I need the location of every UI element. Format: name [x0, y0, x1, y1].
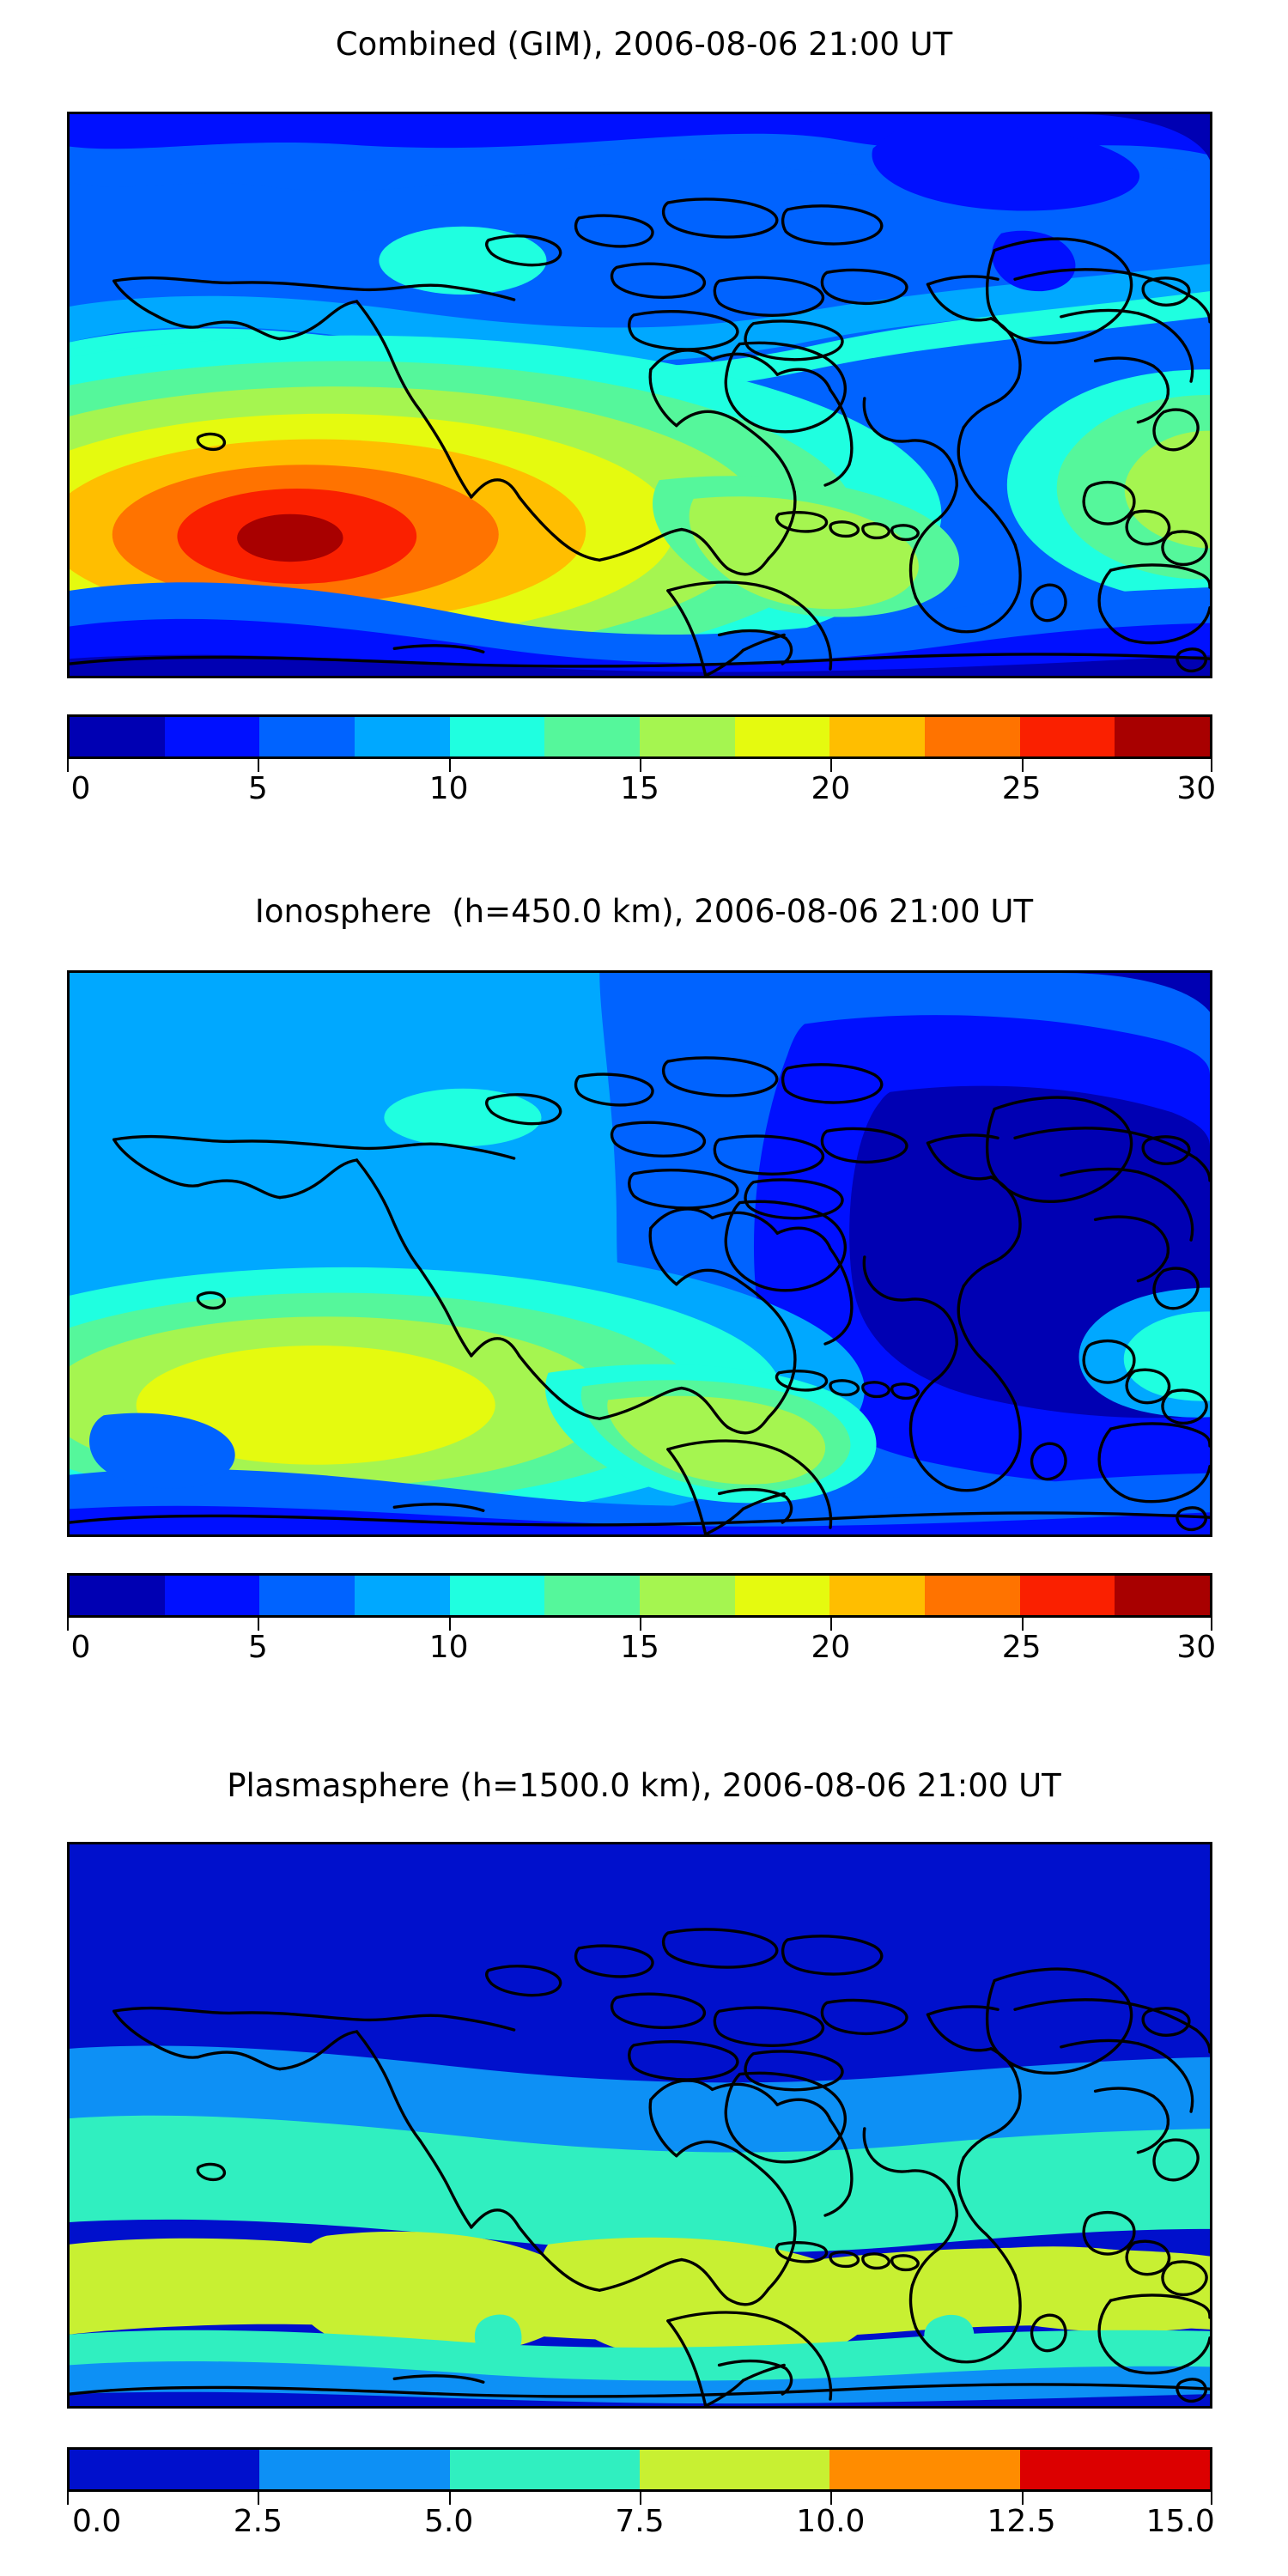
panel-combined-gim: Combined (GIM), 2006-08-06 21:00 UT [0, 0, 1288, 859]
cb2-seg-7 [735, 1576, 830, 1615]
contour-field-ionosphere [70, 973, 1210, 1534]
cb2-seg-1 [165, 1576, 260, 1615]
cb2-seg-5 [544, 1576, 640, 1615]
cb1-seg-0 [70, 717, 165, 756]
cb3-seg-2 [450, 2450, 640, 2489]
cb3-seg-3 [640, 2450, 829, 2489]
contour-field-plasmasphere [70, 1844, 1210, 2406]
map-field-combined [70, 114, 1210, 676]
cb1-tick-5: 25 [1002, 771, 1042, 806]
contour-field-combined [70, 114, 1210, 676]
cb2-seg-3 [355, 1576, 450, 1615]
colorbar-labels-combined: 0 5 10 15 20 25 30 [67, 771, 1212, 811]
cb1-seg-11 [1115, 717, 1210, 756]
cb1-tick-0: 0 [71, 771, 91, 806]
map-field-plasmasphere [70, 1844, 1210, 2406]
cb1-seg-3 [355, 717, 450, 756]
cb2-tick-0: 0 [71, 1630, 91, 1665]
colorbar-plasmasphere: 0.0 2.5 5.0 7.5 10.0 12.5 15.0 [67, 2447, 1212, 2550]
cb1-seg-4 [450, 717, 545, 756]
cb2-tick-3: 15 [620, 1630, 659, 1665]
cb3-tick-2: 5.0 [424, 2504, 473, 2539]
panel-plasmasphere: Plasmasphere (h=1500.0 km), 2006-08-06 2… [0, 1735, 1288, 2576]
colorbar-labels-plasmasphere: 0.0 2.5 5.0 7.5 10.0 12.5 15.0 [67, 2504, 1212, 2543]
cb3-tick-4: 10.0 [796, 2504, 865, 2539]
cb1-tick-1: 5 [248, 771, 268, 806]
cb3-tick-5: 12.5 [987, 2504, 1056, 2539]
colorbar-ionosphere: 0 5 10 15 20 25 30 [67, 1573, 1212, 1676]
panel-ionosphere: Ionosphere (h=450.0 km), 2006-08-06 21:0… [0, 867, 1288, 1726]
map-plasmasphere [67, 1842, 1212, 2409]
cb3-seg-0 [70, 2450, 259, 2489]
cb2-seg-4 [450, 1576, 545, 1615]
cb3-seg-4 [829, 2450, 1019, 2489]
cb1-seg-8 [829, 717, 925, 756]
figure-canvas: Combined (GIM), 2006-08-06 21:00 UT [0, 0, 1288, 2576]
colorbar-labels-ionosphere: 0 5 10 15 20 25 30 [67, 1630, 1212, 1669]
panel-title-ionosphere: Ionosphere (h=450.0 km), 2006-08-06 21:0… [0, 893, 1288, 930]
cb2-seg-0 [70, 1576, 165, 1615]
cb1-seg-9 [925, 717, 1020, 756]
cb1-seg-6 [640, 717, 735, 756]
map-field-ionosphere [70, 973, 1210, 1534]
cb2-tick-1: 5 [248, 1630, 268, 1665]
cb2-tick-2: 10 [429, 1630, 469, 1665]
cb1-seg-5 [544, 717, 640, 756]
colorbar-combined: 0 5 10 15 20 25 30 [67, 714, 1212, 817]
cb3-tick-1: 2.5 [234, 2504, 283, 2539]
map-ionosphere [67, 970, 1212, 1537]
cb2-seg-2 [259, 1576, 355, 1615]
cb2-seg-9 [925, 1576, 1020, 1615]
panel-title-combined: Combined (GIM), 2006-08-06 21:00 UT [0, 26, 1288, 63]
cb2-tick-4: 20 [811, 1630, 850, 1665]
colorbar-gradient-ionosphere [67, 1573, 1212, 1618]
cb2-tick-6: 30 [1176, 1630, 1216, 1665]
panel-title-plasmasphere: Plasmasphere (h=1500.0 km), 2006-08-06 2… [0, 1767, 1288, 1804]
cb1-tick-4: 20 [811, 771, 850, 806]
cb3-tick-6: 15.0 [1146, 2504, 1215, 2539]
cb3-tick-0: 0.0 [72, 2504, 121, 2539]
cb1-tick-2: 10 [429, 771, 469, 806]
cb3-seg-1 [259, 2450, 449, 2489]
cb2-seg-8 [829, 1576, 925, 1615]
cb1-seg-7 [735, 717, 830, 756]
cb1-tick-3: 15 [620, 771, 659, 806]
map-combined-gim [67, 112, 1212, 678]
colorbar-gradient-plasmasphere [67, 2447, 1212, 2492]
cb2-tick-5: 25 [1002, 1630, 1042, 1665]
cb1-seg-10 [1020, 717, 1115, 756]
cb3-seg-5 [1020, 2450, 1210, 2489]
cb1-seg-2 [259, 717, 355, 756]
cb1-tick-6: 30 [1176, 771, 1216, 806]
cb3-tick-3: 7.5 [615, 2504, 664, 2539]
cb2-seg-6 [640, 1576, 735, 1615]
cb2-seg-10 [1020, 1576, 1115, 1615]
colorbar-gradient-combined [67, 714, 1212, 759]
cb1-seg-1 [165, 717, 260, 756]
cb2-seg-11 [1115, 1576, 1210, 1615]
